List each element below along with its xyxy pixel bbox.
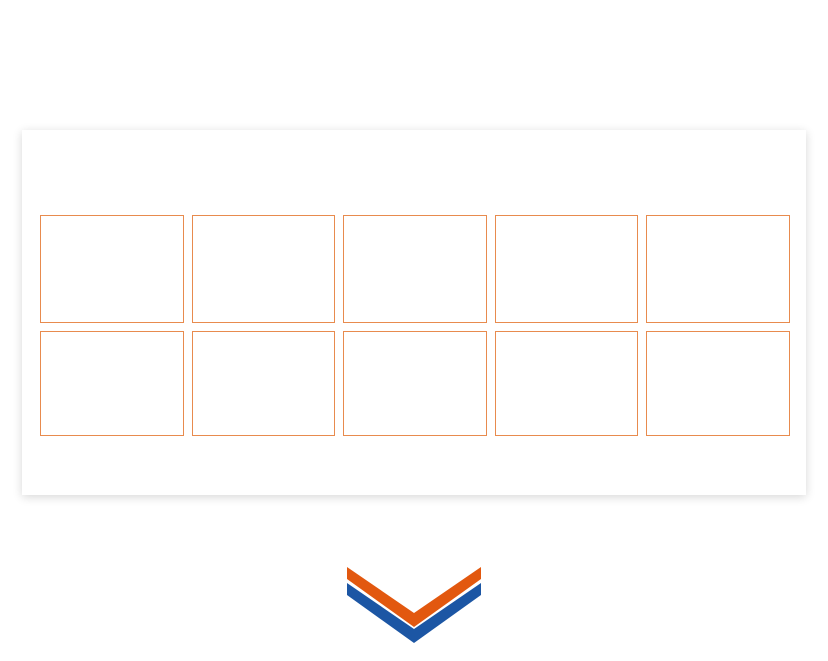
spec-cell-volume-accuracy: [495, 215, 639, 323]
spec-cell-reagent-accuracy: [192, 331, 336, 436]
page-subtitle: [0, 24, 828, 48]
spec-cell-software: [343, 331, 487, 436]
page-header: [0, 0, 828, 48]
spec-cell-temp-accuracy: [343, 215, 487, 323]
spec-cell-dimensions: [495, 331, 639, 436]
spec-row: [40, 331, 790, 436]
spec-cell-hole-count: [40, 215, 184, 323]
spec-row: [40, 215, 790, 323]
spec-grid: [40, 215, 790, 436]
spec-cell-reagent-channels: [646, 215, 790, 323]
spec-cell-temp-range: [192, 215, 336, 323]
spec-cell-control-mode: [40, 331, 184, 436]
spec-panel: [22, 130, 806, 495]
footer-chevron-mark: [0, 565, 828, 645]
double-chevron-down-icon: [344, 565, 484, 645]
spec-cell-power: [646, 331, 790, 436]
